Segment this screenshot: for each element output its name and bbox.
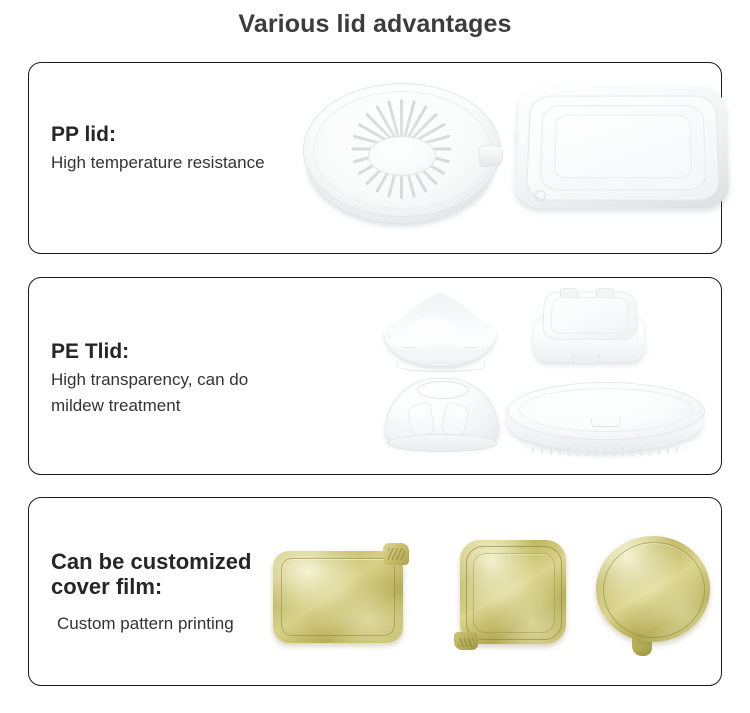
square-lid-tray xyxy=(533,311,646,362)
dome-lid-top-ring xyxy=(417,381,469,399)
card-cover-film: Can be customized cover film: Custom pat… xyxy=(28,497,722,686)
product-image-gold-square-foil-lid xyxy=(454,538,574,654)
gold-square-outer-ring xyxy=(466,546,562,640)
card-cover-film-heading: Can be customized cover film: xyxy=(51,550,251,599)
dome-lid-segment-right xyxy=(440,402,470,438)
card-pp-lid-text-block: PP lid: High temperature resistance xyxy=(51,123,265,176)
product-image-dome-pe-lid xyxy=(385,378,497,452)
oval-lid-bottom-ridges xyxy=(523,447,687,456)
dome-lid-cap xyxy=(385,378,499,446)
gold-square-pull-tab xyxy=(454,632,478,650)
card-pp-lid-subtext: High temperature resistance xyxy=(51,150,265,176)
card-pe-tlid-heading: PE Tlid: xyxy=(51,340,248,364)
round-lid-outer-rim xyxy=(303,83,501,217)
product-image-gold-rectangular-foil-lid xyxy=(273,543,415,647)
card-pp-lid: PP lid: High temperature resistance xyxy=(28,62,722,254)
gold-round-pull-tab xyxy=(632,634,652,656)
square-lid-nub-right xyxy=(596,288,614,297)
gold-square-body xyxy=(460,540,566,644)
rect-lid-corner-dot xyxy=(535,190,546,201)
round-lid-side-tab xyxy=(479,145,503,167)
square-lid-inner-panel xyxy=(550,297,630,334)
gold-rect-inner-panel xyxy=(281,558,395,636)
oval-lid-inner-ring xyxy=(519,388,693,432)
product-image-square-pe-lid xyxy=(534,288,644,370)
dome-lid-base-ring xyxy=(387,434,497,452)
gold-round-inner-ring xyxy=(603,542,705,638)
heart-lid-foot-ring xyxy=(397,361,485,372)
round-lid-rib-pattern xyxy=(329,99,473,199)
card-pp-lid-heading: PP lid: xyxy=(51,123,265,147)
product-image-rectangular-pp-lid xyxy=(517,85,727,225)
gold-rect-body xyxy=(273,551,403,643)
card-pe-tlid-text-block: PE Tlid: High transparency, can do milde… xyxy=(51,340,248,419)
gold-round-body xyxy=(596,536,710,642)
square-lid-nub-left xyxy=(560,288,578,297)
product-image-heart-pe-lid xyxy=(381,288,499,374)
dome-lid-segment-left xyxy=(406,402,436,438)
rect-lid-ring-2 xyxy=(540,105,707,190)
heart-lid-dome xyxy=(389,290,493,348)
product-image-round-pp-lid xyxy=(301,79,501,231)
heart-lid-base xyxy=(384,318,496,366)
round-lid-inner-rim xyxy=(313,91,491,209)
card-cover-film-text-block: Can be customized cover film: Custom pat… xyxy=(51,550,251,638)
heart-lid-highlight xyxy=(405,318,459,346)
round-lid-center-oval xyxy=(368,136,436,176)
card-pe-tlid-subtext: High transparency, can do mildew treatme… xyxy=(51,367,248,420)
page-title: Various lid advantages xyxy=(0,10,750,39)
oval-lid-top xyxy=(507,382,705,440)
product-image-gold-round-foil-lid xyxy=(594,536,718,656)
round-lid-base xyxy=(307,95,495,223)
rect-lid-ring-3 xyxy=(554,115,692,178)
oval-lid-front-notch xyxy=(591,418,621,427)
gold-rect-tab-ribs xyxy=(388,548,405,560)
product-image-oval-pe-lid xyxy=(507,382,703,458)
card-cover-film-subtext: Custom pattern printing xyxy=(51,611,251,637)
rect-lid-side-notch xyxy=(514,131,524,145)
oval-lid-skirt xyxy=(507,404,703,453)
rect-lid-ring-1 xyxy=(526,96,720,201)
gold-rect-pull-tab xyxy=(383,543,409,565)
gold-square-inner-ring xyxy=(473,553,555,633)
card-pe-tlid: PE Tlid: High transparency, can do milde… xyxy=(28,277,722,475)
square-lid-top xyxy=(541,292,638,340)
rect-lid-outer xyxy=(514,87,729,208)
square-lid-front-tab xyxy=(572,354,600,364)
gold-square-tab-ribs xyxy=(458,638,473,647)
